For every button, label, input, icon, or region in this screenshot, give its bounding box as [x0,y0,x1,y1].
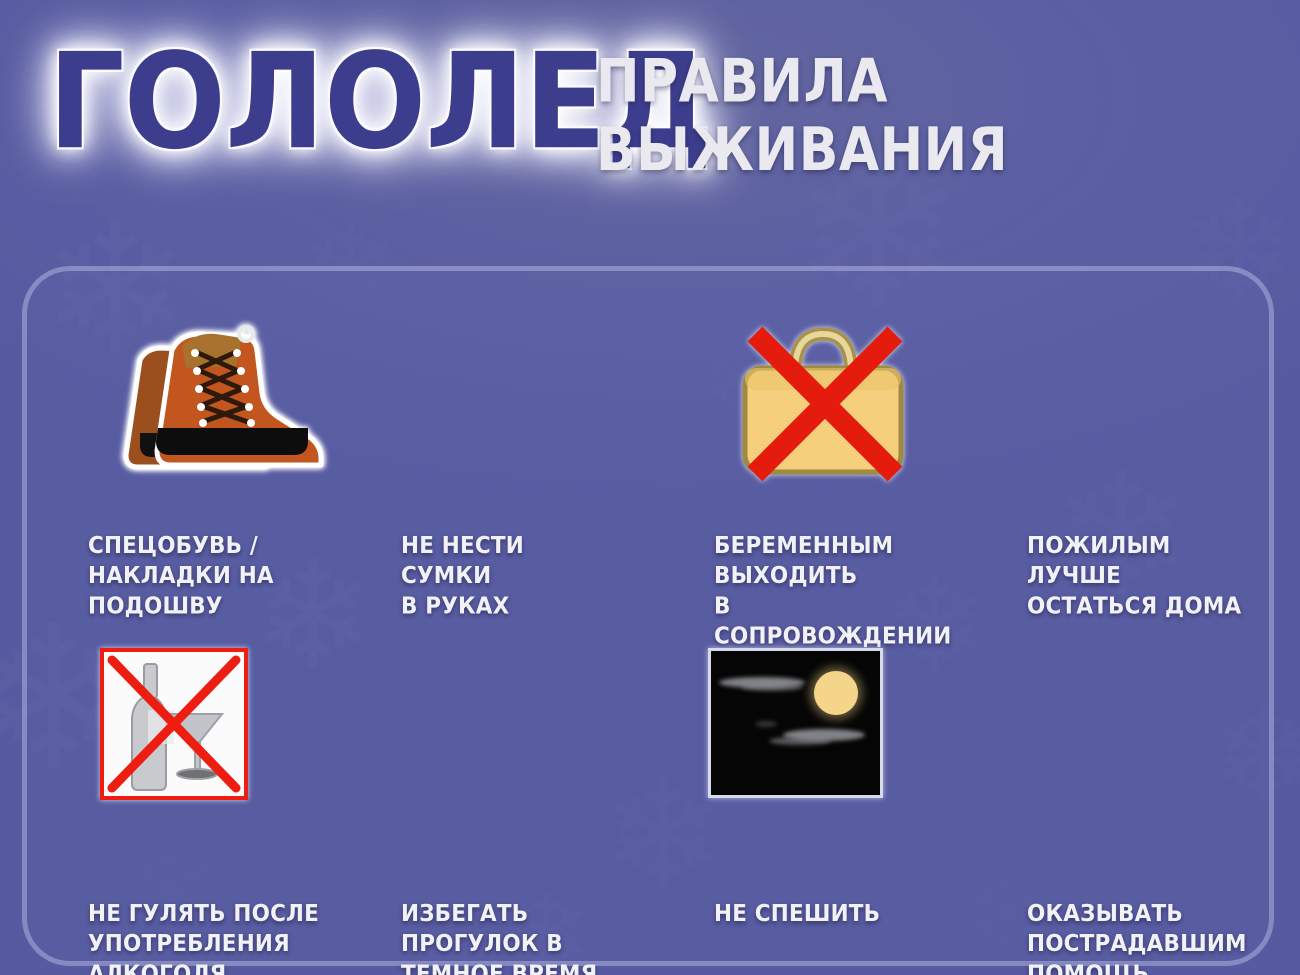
subtitle-line-1: ПРАВИЛА [596,48,1008,117]
tip-card-no-alcohol: НЕ ГУЛЯТЬ ПОСЛЕ УПОТРЕБЛЕНИЯ АЛКОГОЛЯ [22,620,335,970]
tip-card-pregnant-escort: БЕРЕМЕННЫМ ВЫХОДИТЬ В СОПРОВОЖДЕНИИ [648,270,961,620]
infographic-poster: ❄ ❄ ❄ ❄ ❄ ❄ ❄ ❄ ❄ ❄ ❄ ❄ ❄ ❄ ГОЛОЛЕД ПРАВ… [0,0,1300,975]
tip-card-do-not-hurry: НЕ СПЕШИТЬ [648,620,961,970]
tip-card-provide-first-aid: ОКАЗЫВАТЬ ПОСТРАДАВШИМ ПОМОЩЬ [961,620,1274,970]
no-alcohol-icon [100,648,248,800]
tip-caption: СПЕЦОБУВЬ / НАКЛАДКИ НА ПОДОШВУ [88,532,274,622]
tip-caption: НЕ НЕСТИ СУМКИ В РУКАХ [401,532,524,622]
tip-card-no-bags-in-hands: НЕ НЕСТИ СУМКИ В РУКАХ [335,270,648,620]
tip-caption: НЕ ГУЛЯТЬ ПОСЛЕ УПОТРЕБЛЕНИЯ АЛКОГОЛЯ [88,900,319,975]
tip-card-special-footwear: СПЕЦОБУВЬ / НАКЛАДКИ НА ПОДОШВУ [22,270,335,620]
tip-caption: НЕ СПЕШИТЬ [714,900,880,930]
poster-subtitle: ПРАВИЛА ВЫЖИВАНИЯ [596,48,1008,186]
tip-caption: ИЗБЕГАТЬ ПРОГУЛОК В ТЕМНОЕ ВРЕМЯ СУТОК [401,900,648,975]
tips-grid: СПЕЦОБУВЬ / НАКЛАДКИ НА ПОДОШВУ НЕ НЕСТИ… [22,270,1274,970]
hiking-boots-icon [100,308,310,483]
subtitle-line-2: ВЫЖИВАНИЯ [596,117,1008,186]
tip-card-elderly-stay-home: ПОЖИЛЫМ ЛУЧШЕ ОСТАТЬСЯ ДОМА [961,270,1274,620]
tip-caption: ПОЖИЛЫМ ЛУЧШЕ ОСТАТЬСЯ ДОМА [1027,532,1241,622]
tip-caption: ОКАЗЫВАТЬ ПОСТРАДАВШИМ ПОМОЩЬ [1027,900,1247,975]
poster-header: ГОЛОЛЕД ПРАВИЛА ВЫЖИВАНИЯ [0,0,1300,250]
tip-card-avoid-night-walks: ИЗБЕГАТЬ ПРОГУЛОК В ТЕМНОЕ ВРЕМЯ СУТОК [335,620,648,970]
